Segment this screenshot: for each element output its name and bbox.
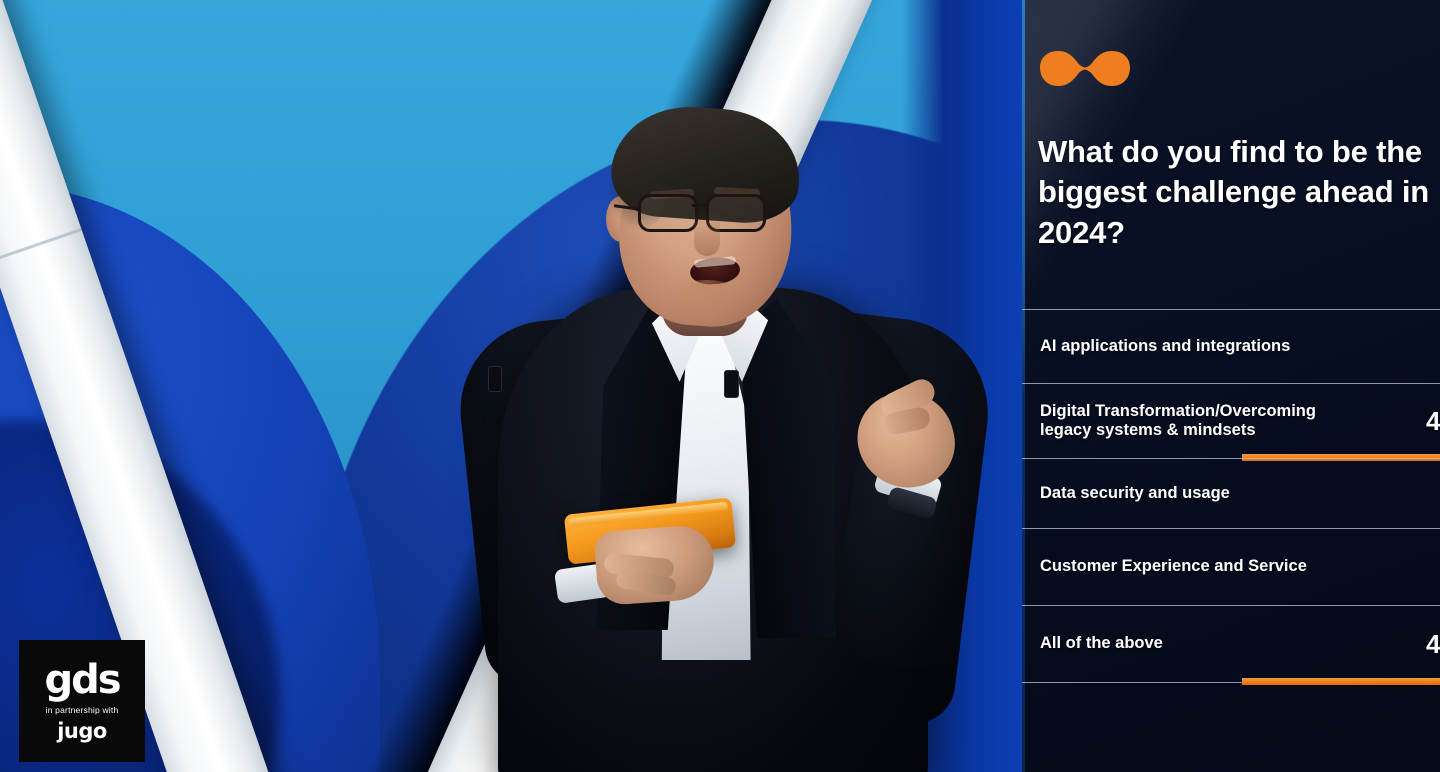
dumbbell-brand-mark-icon (1038, 46, 1132, 92)
poll-question-text: What do you find to be the biggest chall… (1038, 132, 1438, 253)
speaker-nose (694, 212, 720, 256)
jugo-wordmark: jugo (57, 721, 107, 742)
poll-row[interactable]: Data security and usage 0% (1022, 458, 1440, 528)
poll-option-value: 46% (1426, 408, 1440, 434)
poll-options-list: AI applications and integrations 4% Digi… (1022, 309, 1440, 683)
poll-option-label: Customer Experience and Service (1040, 557, 1307, 576)
speaker-figure (0, 0, 1022, 772)
eyeglasses-lens-left (638, 194, 698, 232)
poll-option-value: 46% (1426, 631, 1440, 657)
eyeglasses-bridge (692, 204, 708, 207)
gds-jugo-logo-bug: gds in partnership with jugo (19, 640, 145, 762)
gds-wordmark: gds (44, 660, 119, 700)
poll-results-panel: What do you find to be the biggest chall… (1022, 0, 1440, 772)
poll-option-label: AI applications and integrations (1040, 337, 1290, 356)
poll-row[interactable]: Digital Transformation/Overcoming legacy… (1022, 383, 1440, 458)
lapel-microphone-icon (724, 370, 739, 398)
poll-row[interactable]: All of the above 46% (1022, 605, 1440, 683)
video-stage-feed: gds in partnership with jugo (0, 0, 1022, 772)
poll-row[interactable]: AI applications and integrations 4% (1022, 309, 1440, 383)
logo-partnership-caption: in partnership with (46, 706, 119, 715)
lapel-microphone-secondary-icon (488, 366, 502, 392)
poll-row[interactable]: Customer Experience and Service 4% (1022, 528, 1440, 605)
speaker-chin (666, 280, 746, 320)
poll-option-label: Data security and usage (1040, 484, 1230, 503)
poll-option-label: Digital Transformation/Overcoming legacy… (1040, 402, 1350, 441)
poll-option-label: All of the above (1040, 634, 1163, 653)
broadcast-screenshot: gds in partnership with jugo What do you… (0, 0, 1440, 772)
